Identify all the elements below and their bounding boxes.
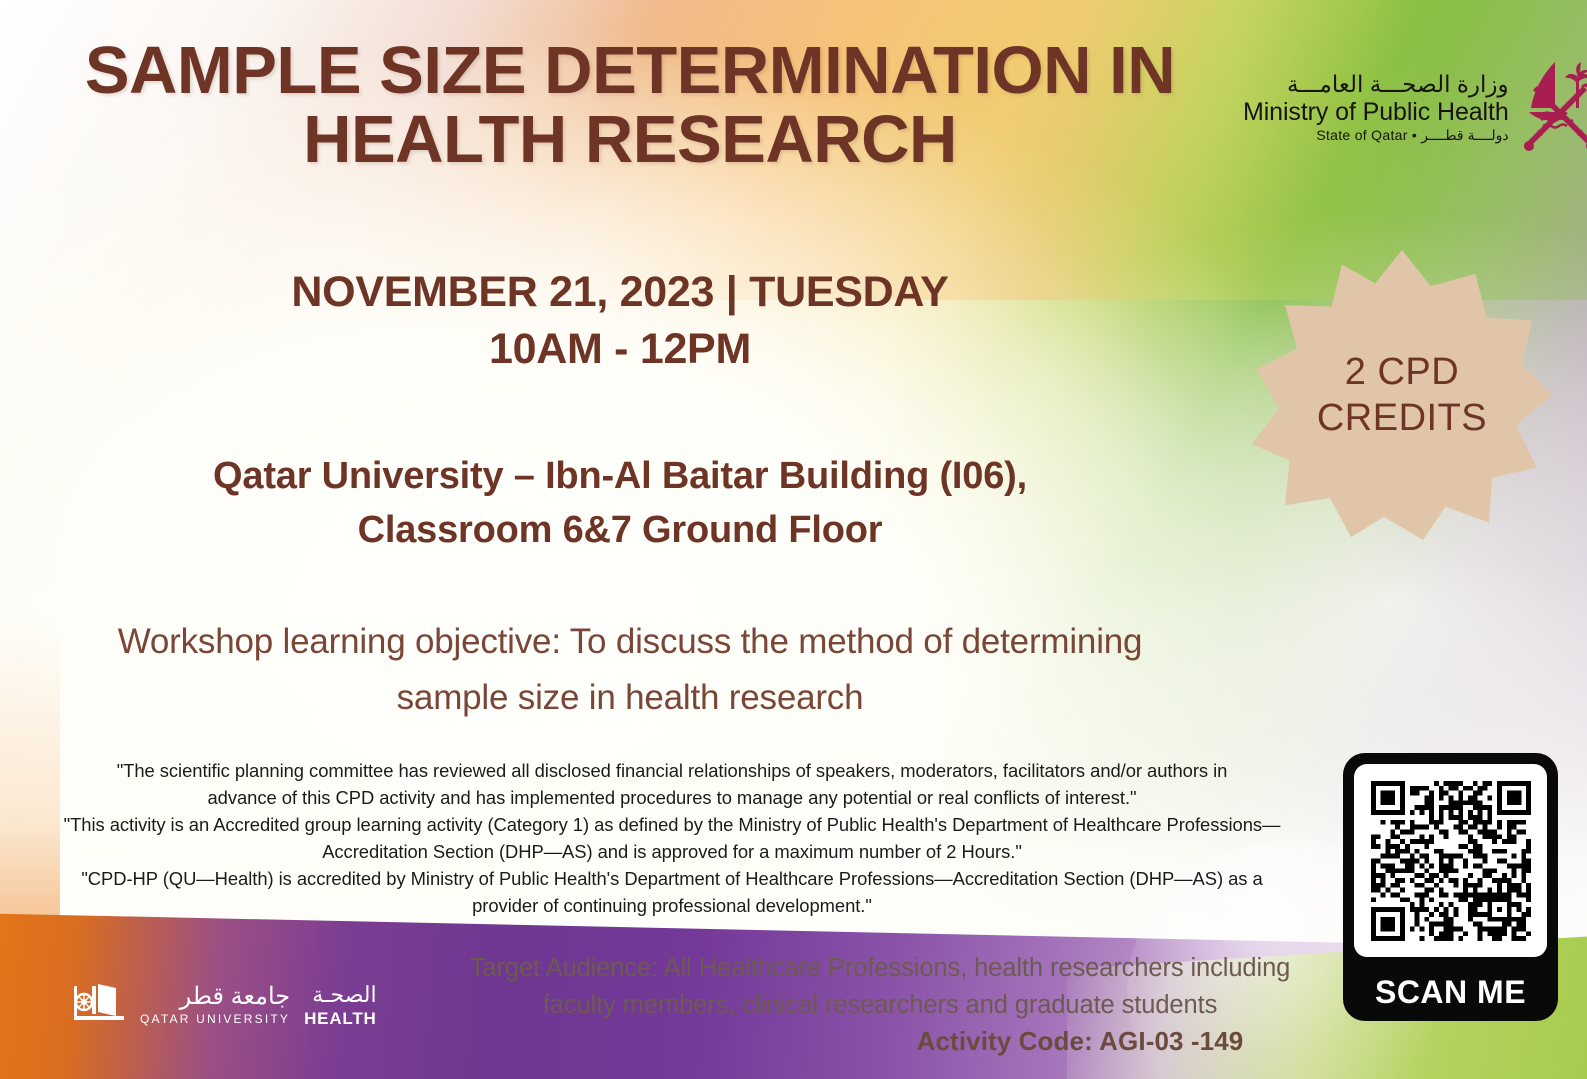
qu-health-english: HEALTH [304,1010,376,1027]
objective-line-1: Workshop learning objective: To discuss … [70,614,1190,670]
cpd-credits-line-2: CREDITS [1317,395,1487,441]
disclaimer-line: "The scientific planning committee has r… [22,757,1322,784]
disclaimer-line: advance of this CPD activity and has imp… [22,784,1322,811]
cpd-credits-line-1: 2 CPD [1345,349,1459,395]
cpd-credits-badge: 2 CPD CREDITS [1252,250,1552,540]
event-venue: Qatar University – Ibn-Al Baitar Buildin… [130,450,1110,558]
qu-name-english: QATAR UNIVERSITY [140,1013,290,1025]
target-audience: Target Audience: All Healthcare Professi… [430,950,1330,1024]
disclaimer-line: provider of continuing professional deve… [22,892,1322,919]
qr-scan-label: SCAN ME [1343,974,1558,1011]
qu-health-wordmark: الصحـة HEALTH [304,984,376,1027]
page-title: SAMPLE SIZE DETERMINATION IN HEALTH RESE… [40,36,1220,174]
event-date: NOVEMBER 21, 2023 | TUESDAY [160,264,1080,321]
disclaimer-line: "CPD-HP (QU—Health) is accredited by Min… [22,865,1322,892]
qatar-university-mark-icon [72,978,126,1033]
qatar-university-wordmark: جامعة قطر QATAR UNIVERSITY [140,985,290,1025]
qr-code-block[interactable]: SCAN ME [1343,753,1558,1021]
ministry-state-subtitle: State of Qatar • دولــــة قطــــر [1243,128,1509,144]
activity-code: Activity Code: AGI-03 -149 [830,1026,1330,1057]
event-poster: SAMPLE SIZE DETERMINATION IN HEALTH RESE… [0,0,1587,1079]
ministry-logo-text: وزارة الصحـــة العامـــة Ministry of Pub… [1243,72,1509,143]
accreditation-disclaimer: "The scientific planning committee has r… [22,757,1322,919]
qu-name-arabic: جامعة قطر [140,985,290,1009]
qr-code-frame [1354,764,1547,957]
ministry-name-arabic: وزارة الصحـــة العامـــة [1243,72,1509,98]
cpd-credits-text: 2 CPD CREDITS [1252,250,1552,540]
audience-line-2: faculty members, clinical researchers an… [430,987,1330,1024]
disclaimer-line: Accreditation Section (DHP—AS) and is ap… [22,838,1322,865]
qr-code-icon [1371,781,1531,941]
qatar-university-health-logo: جامعة قطر QATAR UNIVERSITY الصحـة HEALTH [72,978,377,1032]
ministry-of-public-health-logo: وزارة الصحـــة العامـــة Ministry of Pub… [1243,52,1573,164]
disclaimer-line: "This activity is an Accredited group le… [22,811,1322,838]
objective-line-2: sample size in health research [70,670,1190,726]
learning-objective: Workshop learning objective: To discuss … [70,614,1190,726]
event-time: 10AM - 12PM [160,321,1080,378]
qatar-emblem-icon [1521,56,1587,161]
venue-line-1: Qatar University – Ibn-Al Baitar Buildin… [130,450,1110,504]
qu-health-arabic: الصحـة [304,984,376,1006]
venue-line-2: Classroom 6&7 Ground Floor [130,504,1110,558]
ministry-name-english: Ministry of Public Health [1243,98,1509,126]
event-datetime: NOVEMBER 21, 2023 | TUESDAY 10AM - 12PM [160,264,1080,378]
audience-line-1: Target Audience: All Healthcare Professi… [430,950,1330,987]
